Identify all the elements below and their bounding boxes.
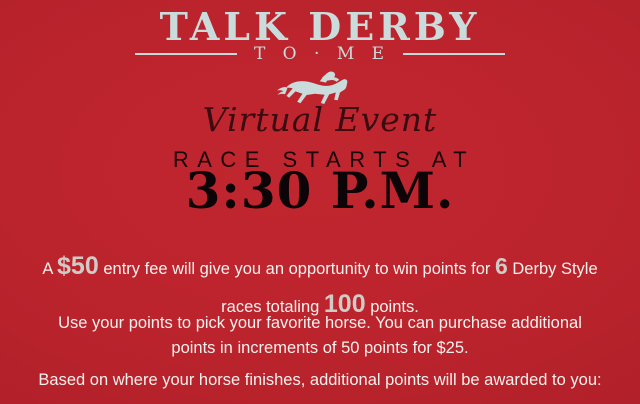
finish-award-paragraph: Based on where your horse finishes, addi… bbox=[0, 368, 640, 393]
entry-fee-amount: $50 bbox=[57, 252, 99, 280]
page-subtitle: T O · M E bbox=[250, 44, 390, 64]
points-usage-paragraph: Use your points to pick your favorite ho… bbox=[0, 311, 640, 361]
divider-rule-left bbox=[135, 53, 237, 55]
race-count-value: 6 bbox=[495, 253, 508, 279]
subtitle-block: T O · M E bbox=[0, 44, 640, 64]
derby-event-flyer: TALK DERBY T O · M E Virtual Event RACE … bbox=[0, 0, 640, 404]
entry-fee-prefix: A bbox=[42, 260, 52, 278]
divider-rule-right bbox=[403, 53, 505, 55]
race-start-time: 3:30 P.M. bbox=[0, 166, 640, 216]
script-block: Virtual Event bbox=[0, 101, 640, 140]
title-block: TALK DERBY bbox=[0, 8, 640, 46]
virtual-event-script: Virtual Event bbox=[0, 101, 640, 140]
race-time-block: 3:30 P.M. bbox=[0, 166, 640, 216]
entry-fee-midtext: entry fee will give you an opportunity t… bbox=[103, 260, 490, 278]
page-title: TALK DERBY bbox=[0, 8, 640, 46]
